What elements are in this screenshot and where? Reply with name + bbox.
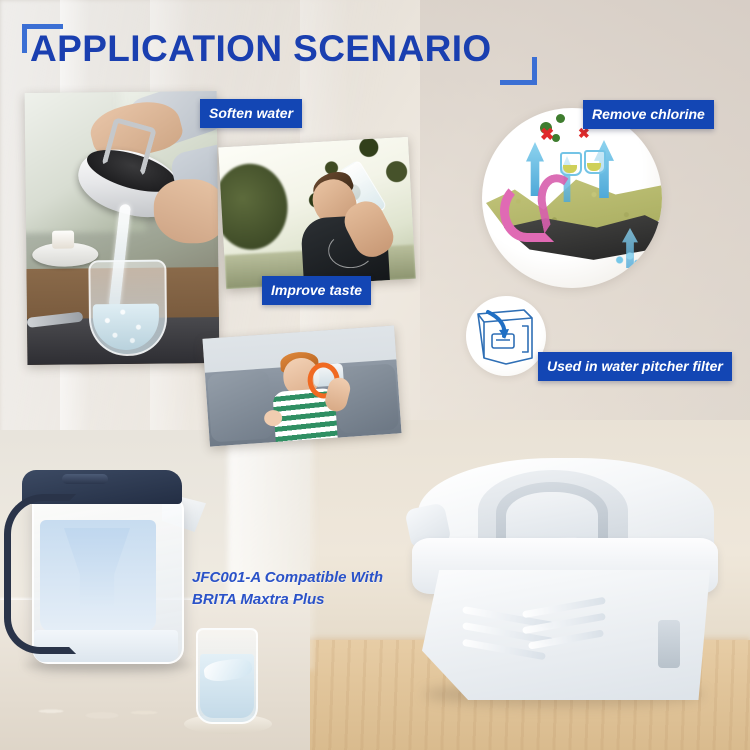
- sill-decor-items: [24, 700, 174, 728]
- pastry: [52, 231, 74, 249]
- poster-canvas: APPLICATION SCENARIO: [0, 0, 750, 750]
- product-water-pitcher: [6, 470, 206, 685]
- page-title: APPLICATION SCENARIO: [22, 24, 502, 71]
- photo-pouring-water: [25, 91, 220, 365]
- product-caption: JFC001-A Compatible With BRITA Maxtra Pl…: [192, 567, 442, 611]
- badge-remove-chlorine: Remove chlorine: [583, 100, 714, 129]
- flask-icon: [584, 150, 606, 174]
- blocked-x-icon: ✖: [540, 126, 554, 143]
- product-caption-line-1: JFC001-A Compatible With: [192, 567, 442, 589]
- product-filter-cartridge: [400, 452, 730, 722]
- badge-soften-water: Soften water: [200, 99, 302, 128]
- photo-baby-drinking: [202, 325, 401, 446]
- product-caption-line-2: BRITA Maxtra Plus: [192, 589, 442, 611]
- photo-man-drinking: [218, 137, 416, 289]
- water-droplets: [610, 250, 642, 270]
- cartridge-side-tab: [658, 620, 680, 668]
- cushion: [207, 370, 274, 442]
- hand: [153, 179, 219, 244]
- page-title-block: APPLICATION SCENARIO: [22, 24, 502, 71]
- pitcher-lid-tab: [62, 474, 108, 484]
- cartridge-handle-inner: [506, 492, 598, 544]
- pitcher-handle: [4, 494, 76, 654]
- contaminant-particle: [556, 114, 565, 123]
- corner-bracket-top-left-icon: [22, 24, 63, 53]
- illustration-pitcher-insert: [466, 296, 546, 376]
- illustration-carbon-filtration: ✖ ✖: [482, 108, 662, 288]
- flask-icon: [560, 152, 582, 176]
- pitcher-line-art-icon: [466, 296, 546, 376]
- water-bubbles: [95, 302, 157, 349]
- product-water-glass: [196, 628, 258, 724]
- badge-improve-taste: Improve taste: [262, 276, 371, 305]
- badge-water-pitcher-filter: Used in water pitcher filter: [538, 352, 732, 381]
- corner-bracket-bottom-right-icon: [500, 57, 537, 85]
